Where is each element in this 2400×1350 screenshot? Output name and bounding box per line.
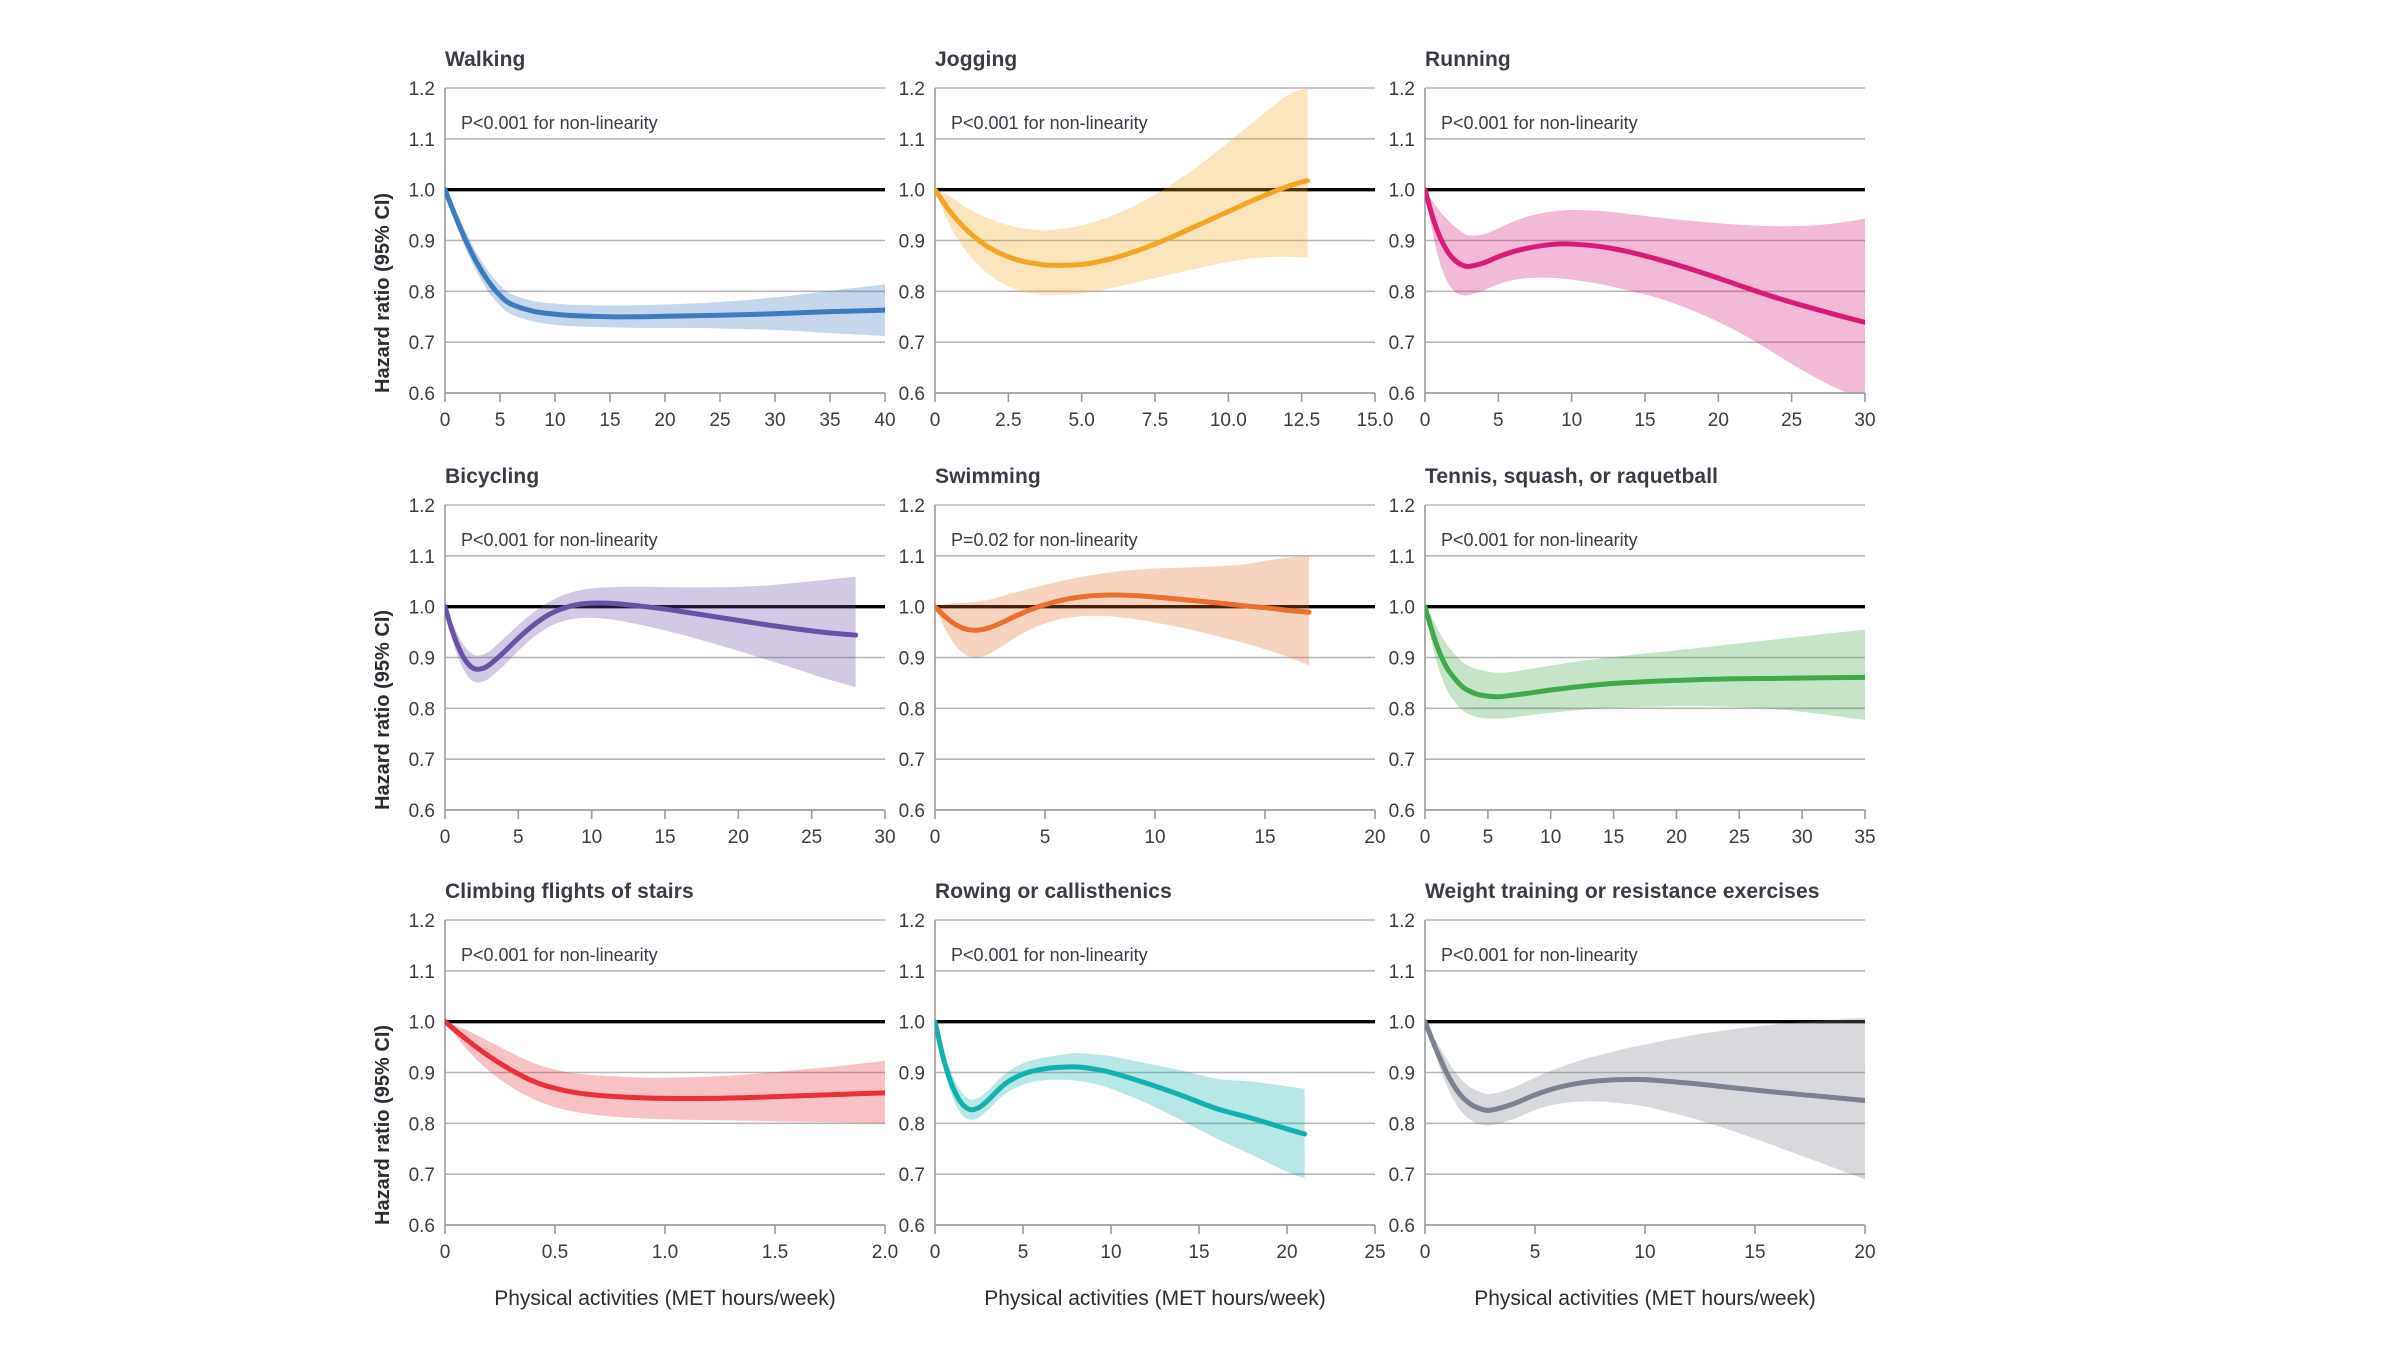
y-tick-label: 0.6 (409, 801, 435, 822)
y-tick-label: 0.6 (899, 384, 925, 405)
p-value-annotation: P=0.02 for non-linearity (951, 530, 1138, 550)
p-value-annotation: P<0.001 for non-linearity (951, 945, 1148, 965)
y-axis-label: Hazard ratio (95% CI) (372, 1025, 395, 1225)
confidence-band (445, 577, 856, 687)
y-tick-label: 0.6 (1389, 801, 1415, 822)
y-tick-label: 1.0 (1389, 598, 1415, 619)
plot-area: 0.60.70.80.91.01.11.20510152025303540P<0… (445, 88, 975, 453)
x-tick-label: 30 (1854, 410, 1875, 431)
y-tick-label: 1.2 (899, 79, 925, 100)
panel-title: Walking (445, 48, 525, 72)
panel-title: Jogging (935, 48, 1017, 72)
y-tick-label: 0.7 (1389, 333, 1415, 354)
x-tick-label: 12.5 (1283, 410, 1320, 431)
x-tick-label: 20 (1854, 1242, 1875, 1263)
y-tick-label: 1.1 (1389, 130, 1415, 151)
x-tick-label: 15 (654, 827, 675, 848)
y-tick-label: 0.9 (409, 649, 435, 670)
x-tick-label: 1.5 (762, 1242, 788, 1263)
y-tick-label: 0.7 (899, 750, 925, 771)
x-tick-label: 25 (1729, 827, 1750, 848)
p-value-annotation: P<0.001 for non-linearity (1441, 530, 1638, 550)
y-tick-label: 1.1 (1389, 547, 1415, 568)
x-tick-label: 10 (544, 410, 565, 431)
x-tick-label: 25 (709, 410, 730, 431)
x-tick-label: 10.0 (1210, 410, 1247, 431)
x-tick-label: 0 (930, 827, 941, 848)
confidence-band (1425, 1018, 1865, 1180)
y-tick-label: 1.2 (899, 496, 925, 517)
y-tick-label: 0.8 (899, 699, 925, 720)
y-tick-label: 1.1 (409, 962, 435, 983)
x-tick-label: 15.0 (1357, 410, 1394, 431)
panel-title: Climbing flights of stairs (445, 880, 694, 904)
y-tick-label: 1.2 (1389, 496, 1415, 517)
x-tick-label: 35 (819, 410, 840, 431)
x-tick-label: 10 (1561, 410, 1582, 431)
y-axis-label: Hazard ratio (95% CI) (372, 193, 395, 393)
p-value-annotation: P<0.001 for non-linearity (1441, 945, 1638, 965)
figure-panel-grid: Walking0.60.70.80.91.01.11.2051015202530… (0, 0, 2400, 1350)
x-tick-label: 20 (654, 410, 675, 431)
panel-title: Swimming (935, 465, 1041, 489)
x-tick-label: 15 (1603, 827, 1624, 848)
y-tick-label: 1.2 (409, 496, 435, 517)
y-tick-label: 0.9 (1389, 232, 1415, 253)
x-tick-label: 1.0 (652, 1242, 678, 1263)
y-tick-label: 0.7 (1389, 1165, 1415, 1186)
y-tick-label: 0.6 (899, 801, 925, 822)
plot-area: 0.60.70.80.91.01.11.205101520P=0.02 for … (935, 505, 1465, 870)
y-tick-label: 0.8 (409, 1114, 435, 1135)
y-tick-label: 0.6 (409, 384, 435, 405)
plot-area: 0.60.70.80.91.01.11.20510152025P<0.001 f… (935, 920, 1465, 1285)
y-tick-label: 0.8 (899, 282, 925, 303)
x-tick-label: 30 (1792, 827, 1813, 848)
y-tick-label: 0.6 (1389, 384, 1415, 405)
y-tick-label: 1.0 (409, 1013, 435, 1034)
x-tick-label: 0 (440, 1242, 451, 1263)
x-axis-label: Physical activities (MET hours/week) (935, 1287, 1375, 1311)
x-tick-label: 0 (1420, 827, 1431, 848)
x-tick-label: 15 (599, 410, 620, 431)
plot-area: 0.60.70.80.91.01.11.2051015202530P<0.001… (445, 505, 975, 870)
y-tick-label: 1.2 (1389, 911, 1415, 932)
x-tick-label: 40 (874, 410, 895, 431)
x-tick-label: 25 (1364, 1242, 1385, 1263)
x-tick-label: 15 (1634, 410, 1655, 431)
y-tick-label: 0.7 (1389, 750, 1415, 771)
panel-title: Running (1425, 48, 1511, 72)
x-tick-label: 0 (930, 410, 941, 431)
x-tick-label: 5 (1040, 827, 1051, 848)
y-tick-label: 0.8 (409, 699, 435, 720)
p-value-annotation: P<0.001 for non-linearity (951, 113, 1148, 133)
y-tick-label: 1.0 (409, 181, 435, 202)
x-tick-label: 10 (1144, 827, 1165, 848)
x-tick-label: 15 (1188, 1242, 1209, 1263)
y-tick-label: 1.0 (899, 1013, 925, 1034)
y-tick-label: 1.2 (899, 911, 925, 932)
y-tick-label: 1.2 (409, 79, 435, 100)
y-tick-label: 1.2 (409, 911, 435, 932)
x-tick-label: 5 (1018, 1242, 1029, 1263)
x-axis-label: Physical activities (MET hours/week) (1425, 1287, 1865, 1311)
y-tick-label: 0.8 (409, 282, 435, 303)
x-tick-label: 5.0 (1068, 410, 1094, 431)
x-tick-label: 0 (1420, 410, 1431, 431)
y-tick-label: 0.7 (409, 333, 435, 354)
x-tick-label: 0 (440, 827, 451, 848)
p-value-annotation: P<0.001 for non-linearity (1441, 113, 1638, 133)
panel-title: Weight training or resistance exercises (1425, 880, 1820, 904)
x-axis-label: Physical activities (MET hours/week) (445, 1287, 885, 1311)
x-tick-label: 20 (1364, 827, 1385, 848)
y-tick-label: 1.0 (899, 181, 925, 202)
x-tick-label: 5 (1483, 827, 1494, 848)
y-tick-label: 1.2 (1389, 79, 1415, 100)
panel-title: Bicycling (445, 465, 539, 489)
x-tick-label: 0.5 (542, 1242, 568, 1263)
x-tick-label: 15 (1254, 827, 1275, 848)
x-tick-label: 0 (930, 1242, 941, 1263)
x-tick-label: 5 (1530, 1242, 1541, 1263)
y-tick-label: 0.7 (899, 333, 925, 354)
p-value-annotation: P<0.001 for non-linearity (461, 945, 658, 965)
plot-area: 0.60.70.80.91.01.11.205101520253035P<0.0… (1425, 505, 1955, 870)
x-tick-label: 5 (495, 410, 506, 431)
y-tick-label: 0.9 (409, 232, 435, 253)
panel-title: Rowing or callisthenics (935, 880, 1172, 904)
y-tick-label: 0.7 (899, 1165, 925, 1186)
y-tick-label: 0.8 (899, 1114, 925, 1135)
y-tick-label: 1.0 (409, 598, 435, 619)
x-tick-label: 25 (1781, 410, 1802, 431)
y-tick-label: 0.6 (409, 1216, 435, 1237)
p-value-annotation: P<0.001 for non-linearity (461, 530, 658, 550)
y-tick-label: 0.8 (1389, 699, 1415, 720)
plot-area: 0.60.70.80.91.01.11.200.51.01.52.0P<0.00… (445, 920, 975, 1285)
plot-area: 0.60.70.80.91.01.11.205101520P<0.001 for… (1425, 920, 1955, 1285)
x-tick-label: 35 (1854, 827, 1875, 848)
y-tick-label: 1.0 (1389, 1013, 1415, 1034)
confidence-band (1425, 607, 1865, 720)
x-tick-label: 20 (1666, 827, 1687, 848)
y-tick-label: 0.9 (1389, 649, 1415, 670)
x-tick-label: 10 (1634, 1242, 1655, 1263)
y-tick-label: 1.1 (899, 130, 925, 151)
x-tick-label: 25 (801, 827, 822, 848)
y-tick-label: 0.9 (1389, 1064, 1415, 1085)
y-tick-label: 1.1 (1389, 962, 1415, 983)
y-tick-label: 1.1 (409, 547, 435, 568)
x-tick-label: 5 (1493, 410, 1504, 431)
y-tick-label: 1.1 (899, 962, 925, 983)
y-tick-label: 0.7 (409, 1165, 435, 1186)
x-tick-label: 20 (728, 827, 749, 848)
y-tick-label: 0.9 (899, 1064, 925, 1085)
x-tick-label: 7.5 (1142, 410, 1168, 431)
confidence-band (1425, 190, 1865, 401)
x-tick-label: 10 (1540, 827, 1561, 848)
plot-area: 0.60.70.80.91.01.11.2051015202530P<0.001… (1425, 88, 1955, 453)
x-tick-label: 0 (440, 410, 451, 431)
confidence-band (935, 556, 1309, 665)
x-tick-label: 30 (764, 410, 785, 431)
y-tick-label: 1.0 (1389, 181, 1415, 202)
y-tick-label: 1.1 (899, 547, 925, 568)
y-axis-label: Hazard ratio (95% CI) (372, 610, 395, 810)
y-tick-label: 0.8 (1389, 1114, 1415, 1135)
x-tick-label: 20 (1276, 1242, 1297, 1263)
x-tick-label: 15 (1744, 1242, 1765, 1263)
x-tick-label: 10 (1100, 1242, 1121, 1263)
y-tick-label: 0.7 (409, 750, 435, 771)
x-tick-label: 0 (1420, 1242, 1431, 1263)
p-value-annotation: P<0.001 for non-linearity (461, 113, 658, 133)
y-tick-label: 0.9 (899, 232, 925, 253)
y-tick-label: 0.9 (899, 649, 925, 670)
y-tick-label: 0.6 (899, 1216, 925, 1237)
y-tick-label: 0.6 (1389, 1216, 1415, 1237)
y-tick-label: 1.0 (899, 598, 925, 619)
x-tick-label: 2.5 (995, 410, 1021, 431)
x-tick-label: 30 (874, 827, 895, 848)
x-tick-label: 5 (513, 827, 524, 848)
panel-title: Tennis, squash, or raquetball (1425, 465, 1718, 489)
y-tick-label: 1.1 (409, 130, 435, 151)
plot-area: 0.60.70.80.91.01.11.202.55.07.510.012.51… (935, 88, 1465, 453)
y-tick-label: 0.8 (1389, 282, 1415, 303)
x-tick-label: 2.0 (872, 1242, 898, 1263)
y-tick-label: 0.9 (409, 1064, 435, 1085)
x-tick-label: 20 (1708, 410, 1729, 431)
x-tick-label: 10 (581, 827, 602, 848)
